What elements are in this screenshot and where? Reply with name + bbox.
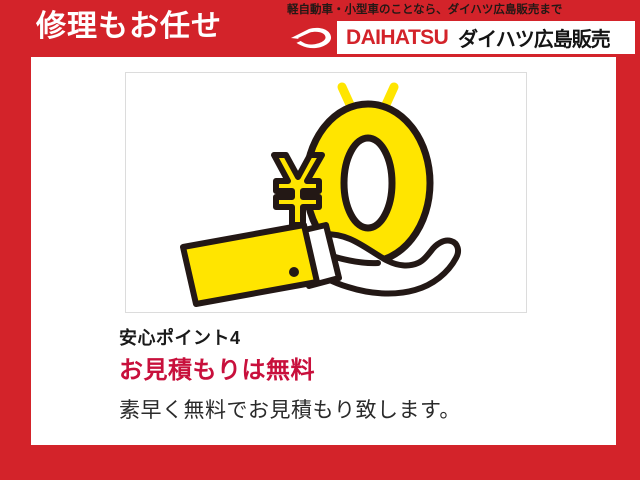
content-panel: 安心ポイント4 お見積もりは無料 素早く無料でお見積もり致します。 — [31, 57, 616, 445]
slide-header: 修理もお任せ 軽自動車・小型車のことなら、ダイハツ広島販売まで DAIHATSU… — [0, 0, 640, 57]
point-label: 安心ポイント4 — [119, 325, 589, 351]
brand-block: 軽自動車・小型車のことなら、ダイハツ広島販売まで DAIHATSU ダイハツ広島… — [285, 2, 635, 54]
brand-logo-bar: DAIHATSU ダイハツ広島販売 — [285, 21, 635, 54]
illustration-frame — [125, 72, 527, 313]
yellow-sleeve-icon — [183, 225, 339, 304]
slide-root: 修理もお任せ 軽自動車・小型車のことなら、ダイハツ広島販売まで DAIHATSU… — [0, 0, 640, 480]
text-block: 安心ポイント4 お見積もりは無料 素早く無料でお見積もり致します。 — [119, 325, 589, 427]
page-title: 修理もお任せ — [36, 8, 222, 46]
daihatsu-d-emblem-icon — [285, 21, 337, 54]
dealer-name: ダイハツ広島販売 — [458, 23, 610, 52]
subline: 素早く無料でお見積もり致します。 — [119, 395, 589, 427]
daihatsu-wordmark: DAIHATSU — [346, 26, 448, 50]
hand-holding-zero-yen-illustration — [126, 73, 526, 312]
headline: お見積もりは無料 — [119, 353, 589, 389]
brand-tagline: 軽自動車・小型車のことなら、ダイハツ広島販売まで — [287, 2, 562, 18]
